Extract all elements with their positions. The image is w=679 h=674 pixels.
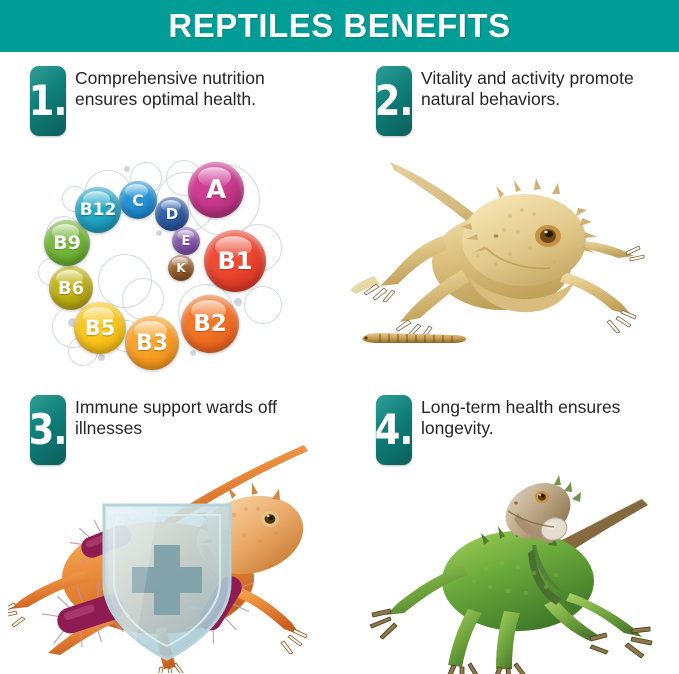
panel-2-number: 2. (375, 80, 413, 122)
vitamin-sphere-b12: B12 (75, 187, 121, 233)
panel-4-text: Long-term health ensures longevity. (421, 395, 636, 439)
bearded-dragon-photo (350, 144, 679, 359)
vitamin-sphere-a: A (188, 162, 244, 218)
vitamin-sphere-label: K (176, 261, 185, 275)
vitamin-sphere-label: B12 (80, 200, 117, 220)
benefit-panel-3: 3. Immune support wards off illnesses (0, 363, 339, 674)
vitamin-sphere-c: C (119, 181, 157, 219)
benefit-panel-2: 2. Vitality and activity promote natural… (340, 52, 679, 363)
benefit-panel-4: 4. Long-term health ensures longevity. (340, 363, 679, 674)
vitamin-sphere-label: B1 (218, 247, 253, 275)
infographic-page: REPTILES BENEFITS 1. Comprehensive nutri… (0, 0, 679, 674)
vitamin-sphere-label: C (132, 191, 144, 210)
panel-1-text: Comprehensive nutrition ensures optimal … (75, 66, 290, 110)
panel-2-text: Vitality and activity promote natural be… (421, 66, 636, 110)
shield-icon (104, 505, 230, 659)
header-banner: REPTILES BENEFITS (0, 0, 679, 52)
vitamin-sphere-e: E (172, 227, 200, 255)
panel-2-number-badge: 2. (376, 66, 412, 136)
green-iguana-photo (356, 441, 676, 674)
vitamin-sphere-label: B9 (53, 232, 81, 254)
vitamin-sphere-label: E (182, 234, 191, 249)
vitamin-sphere-b6: B6 (49, 266, 93, 310)
vitamin-sphere-label: B2 (193, 311, 227, 337)
vitamin-sphere-b5: B5 (74, 302, 126, 354)
vitamin-sphere-b1: B1 (204, 230, 266, 292)
page-title: REPTILES BENEFITS (168, 7, 510, 45)
benefit-panel-1: 1. Comprehensive nutrition ensures optim… (0, 52, 339, 363)
panel-2-heading: 2. Vitality and activity promote natural… (376, 66, 636, 136)
vitamin-sphere-b3: B3 (125, 316, 179, 370)
vitamin-sphere-label: D (166, 205, 178, 223)
vitamin-sphere-k: K (168, 255, 194, 281)
vitamin-sphere-label: B5 (85, 316, 116, 340)
immunity-shield-illustration (8, 443, 338, 673)
panel-1-heading: 1. Comprehensive nutrition ensures optim… (30, 66, 290, 136)
vitamin-sphere-b2: B2 (181, 295, 239, 353)
vitamin-sphere-d: D (155, 197, 189, 231)
panel-1-number-badge: 1. (30, 66, 66, 136)
vitamin-sphere-label: A (206, 175, 226, 205)
vitamin-wheel-illustration: AB1B2B3B5B6B9B12CDEK (38, 158, 288, 363)
mealworm-photo (358, 330, 468, 346)
panel-1-number: 1. (29, 80, 67, 122)
panel-3-text: Immune support wards off illnesses (75, 395, 290, 439)
vitamin-sphere-label: B3 (136, 331, 168, 356)
vitamin-sphere-label: B6 (58, 278, 84, 299)
